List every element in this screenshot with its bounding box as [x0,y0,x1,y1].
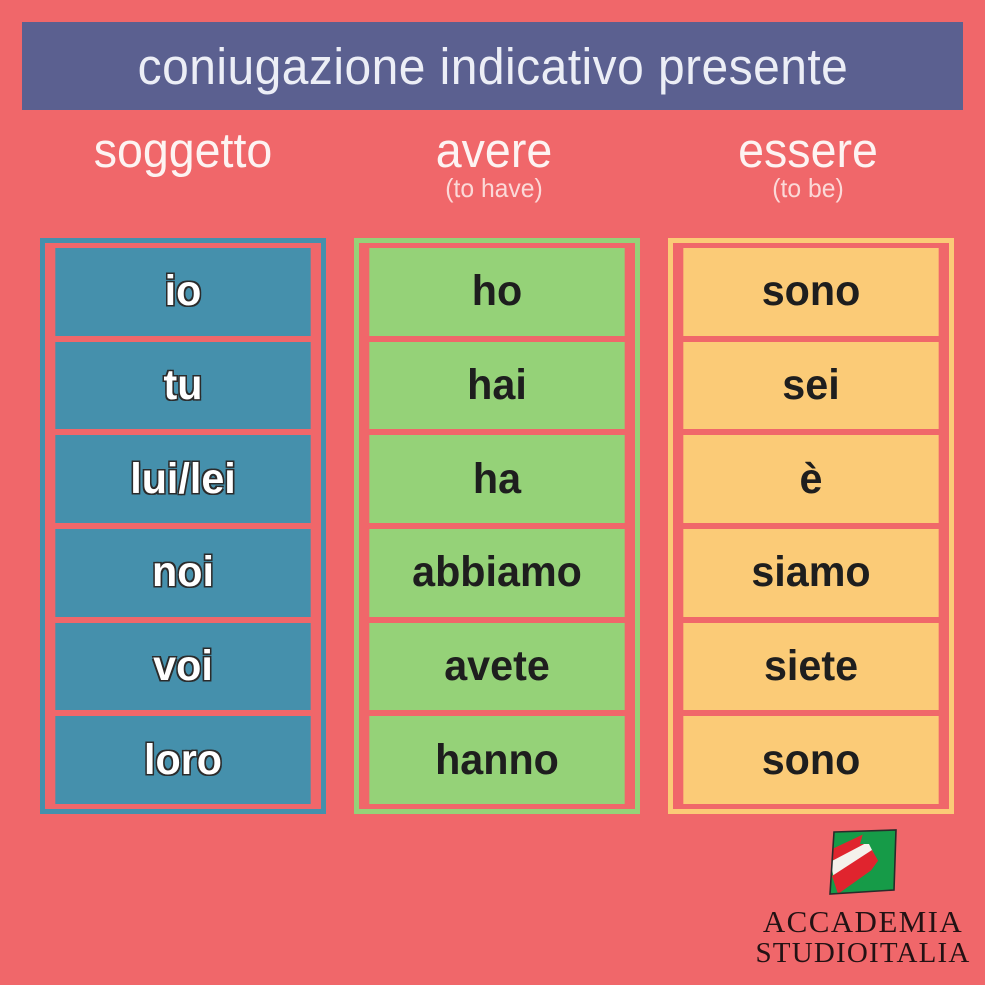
column-header-soggetto: soggetto [38,124,328,175]
logo-line-accademia: ACCADEMIA [754,906,972,937]
table-cell: hanno [369,716,624,804]
table-column-avere: ho hai ha abbiamo avete hanno [354,238,640,814]
table-cell: ha [369,435,624,523]
table-column-essere-cells: sono sei è siamo siete sono [673,243,949,809]
table-cell: lui/lei [55,435,310,523]
table-cell: sono [683,716,938,804]
brand-logo: ACCADEMIA STUDIOITALIA [754,828,972,968]
table-cell: hai [369,342,624,430]
table-column-avere-cells: ho hai ha abbiamo avete hanno [359,243,635,809]
column-header-essere: essere (to be) [666,124,950,201]
table-cell: io [55,248,310,336]
table-cell: siamo [683,529,938,617]
column-header-soggetto-label: soggetto [45,124,321,179]
page-title: coniugazione indicativo presente [137,41,848,92]
table-cell: sono [683,248,938,336]
column-header-avere-sublabel: (to have) [359,175,629,201]
table-column-soggetto-cells: io tu lui/lei noi voi loro [45,243,321,809]
table-column-soggetto: io tu lui/lei noi voi loro [40,238,326,814]
table-cell: abbiamo [369,529,624,617]
logo-line-studioitalia: STUDIOITALIA [754,937,972,969]
table-cell: avete [369,623,624,711]
conjugation-table: io tu lui/lei noi voi loro ho hai ha abb… [0,238,985,816]
table-cell: è [683,435,938,523]
column-header-essere-label: essere [673,124,943,179]
table-cell: siete [683,623,938,711]
column-headers: soggetto avere (to have) essere (to be) [0,124,985,236]
table-cell: voi [55,623,310,711]
table-cell: loro [55,716,310,804]
column-header-avere-label: avere [359,124,629,179]
table-cell: noi [55,529,310,617]
table-cell: sei [683,342,938,430]
table-cell: ho [369,248,624,336]
table-column-essere: sono sei è siamo siete sono [668,238,954,814]
column-header-avere: avere (to have) [352,124,636,201]
title-bar: coniugazione indicativo presente [22,22,963,110]
italian-flag-arrow-icon [824,828,902,900]
table-cell: tu [55,342,310,430]
column-header-essere-sublabel: (to be) [673,175,943,201]
